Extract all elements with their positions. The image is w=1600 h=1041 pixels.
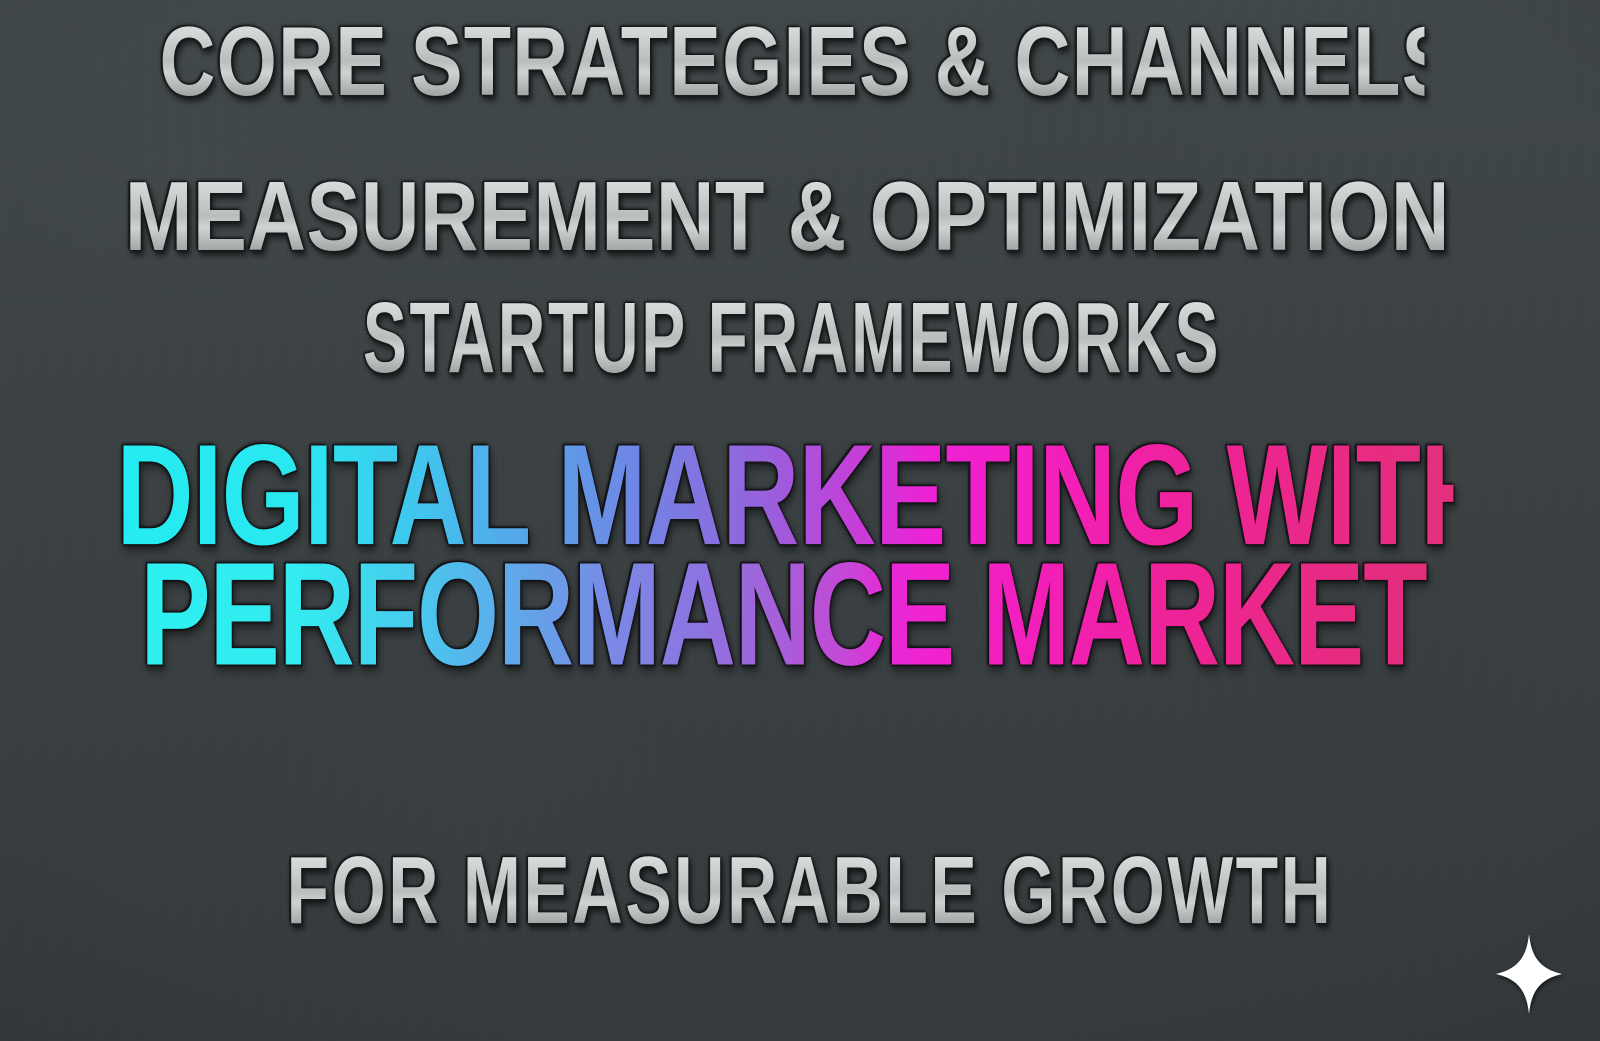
banner-canvas: CORE STRATEGIES & CHANNELS MEASUREMENT &… bbox=[0, 0, 1600, 1041]
eyebrow-line-measurement-optimization: MEASUREMENT & OPTIMIZATION bbox=[125, 167, 1449, 265]
eyebrow-line-core-strategies: CORE STRATEGIES & CHANNELS bbox=[160, 12, 1425, 110]
tagline-for-measurable-growth: FOR MEASURABLE GROWTH bbox=[230, 843, 1390, 939]
sparkle-icon bbox=[1496, 934, 1562, 1014]
title-line-performance-marketing: PERFORMANCE MARKETING bbox=[140, 540, 1429, 687]
eyebrow-line-startup-frameworks: STARTUP FRAMEWORKS bbox=[265, 288, 1320, 388]
